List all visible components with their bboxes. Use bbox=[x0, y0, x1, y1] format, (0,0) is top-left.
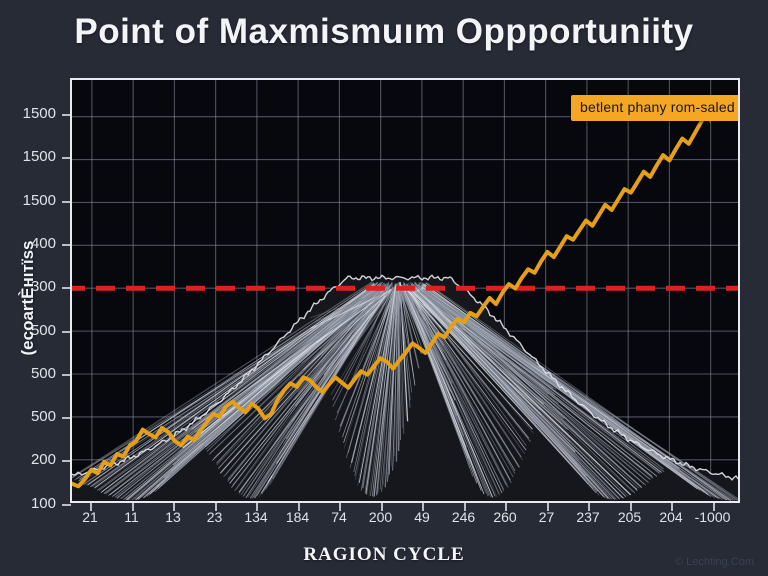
watermark: © Lechting.Com bbox=[675, 556, 754, 568]
x-tick-mark bbox=[547, 503, 549, 511]
plot-graphics bbox=[72, 80, 738, 501]
x-tick-mark bbox=[588, 503, 590, 511]
x-tick-mark bbox=[464, 503, 466, 511]
plot-area: betlent phany rom-saled bbox=[70, 78, 740, 503]
y-tick-label: 500 bbox=[0, 322, 56, 339]
x-tick-mark bbox=[298, 503, 300, 511]
y-tick-label: 100 bbox=[0, 495, 56, 512]
y-tick-label: 1500 bbox=[0, 105, 56, 122]
x-tick-mark bbox=[671, 503, 673, 511]
y-tick-label: 1500 bbox=[0, 192, 56, 209]
x-tick-mark bbox=[381, 503, 383, 511]
y-tick-label: 300 bbox=[0, 278, 56, 295]
y-tick-label: 500 bbox=[0, 365, 56, 382]
y-tick-label: 400 bbox=[0, 235, 56, 252]
x-tick-mark bbox=[215, 503, 217, 511]
page-title: Point of Maxmismuım Oppportuniity bbox=[0, 12, 768, 52]
x-tick-mark bbox=[630, 503, 632, 511]
x-tick-mark bbox=[90, 503, 92, 511]
x-tick-mark bbox=[339, 503, 341, 511]
legend-label: betlent phany rom-saled bbox=[580, 99, 735, 115]
x-axis-title: RAGION CYCLE bbox=[0, 544, 768, 566]
x-tick-mark bbox=[173, 503, 175, 511]
y-tick-label: 1500 bbox=[0, 148, 56, 165]
x-tick-mark bbox=[505, 503, 507, 511]
y-tick-label: 200 bbox=[0, 451, 56, 468]
mountain-hatch-series bbox=[72, 275, 738, 501]
chart-canvas: Point of Maxmismuım Oppportuniity (ecoar… bbox=[0, 0, 768, 576]
y-tick-label: 500 bbox=[0, 408, 56, 425]
legend-item-trend[interactable]: betlent phany rom-saled bbox=[571, 95, 740, 121]
x-tick-label: -1000 bbox=[683, 509, 743, 525]
x-tick-mark bbox=[256, 503, 258, 511]
x-tick-mark bbox=[132, 503, 134, 511]
x-tick-mark bbox=[713, 503, 715, 511]
x-tick-mark bbox=[422, 503, 424, 511]
y-tick-mark bbox=[62, 504, 71, 506]
